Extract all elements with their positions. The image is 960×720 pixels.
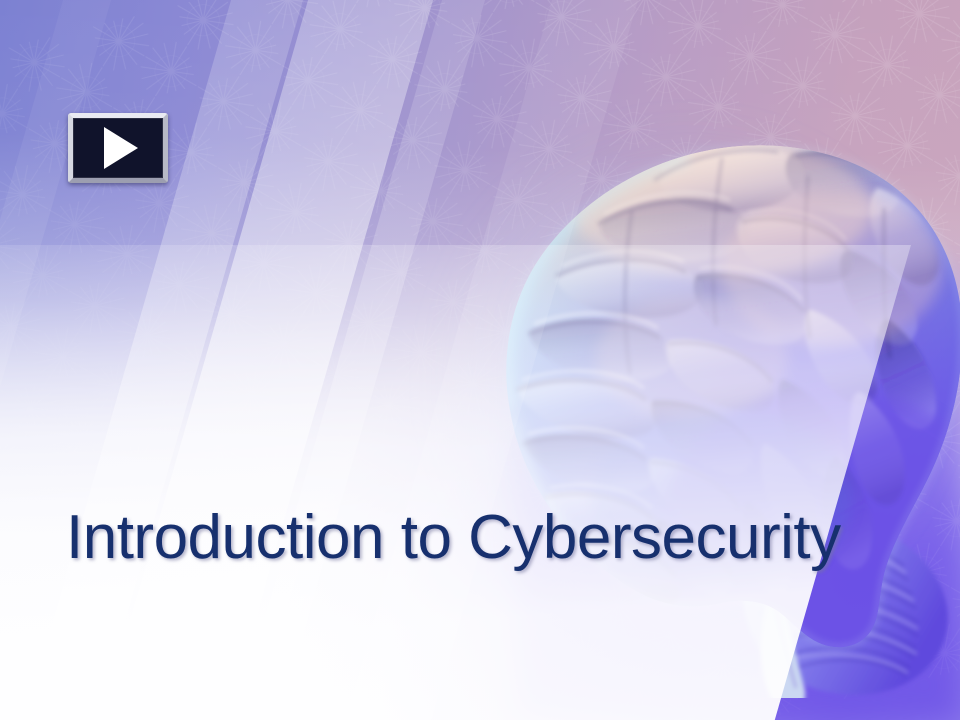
page-title: Introduction to Cybersecurity <box>66 505 886 572</box>
brain-illustration <box>392 58 960 698</box>
presentation-slide: Introduction to Cybersecurity <box>0 0 960 720</box>
play-triangle-icon <box>104 127 138 169</box>
play-button[interactable] <box>68 113 168 183</box>
